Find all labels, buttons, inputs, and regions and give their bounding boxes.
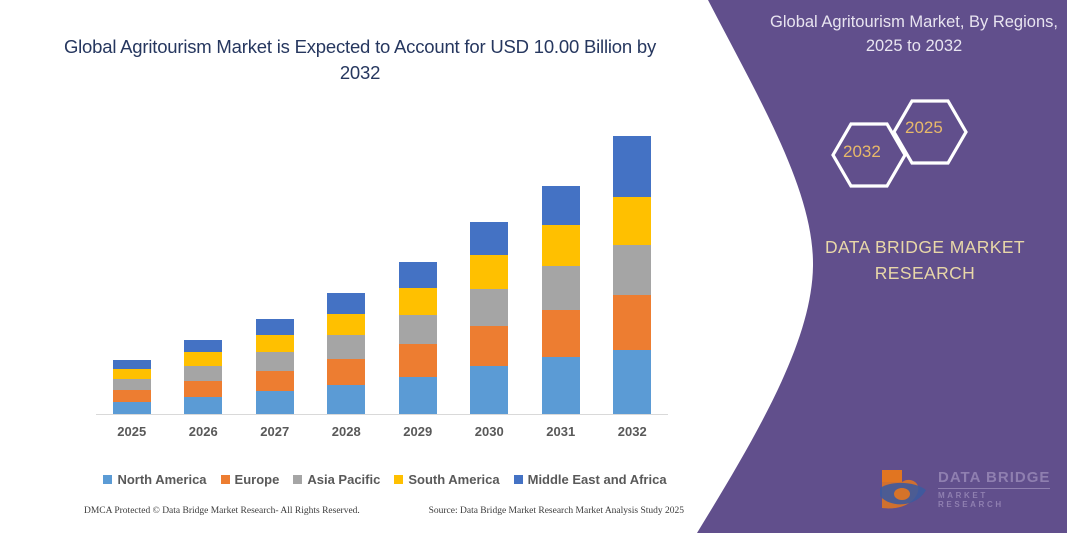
legend-label: Europe [235,472,280,487]
bar-segment [613,197,651,245]
brand-name-line2: RESEARCH [790,260,1060,286]
x-axis-label: 2032 [596,424,668,439]
bar-segment [399,288,437,315]
bar-column [399,262,437,415]
bar-segment [542,225,580,266]
bar-segment [542,357,580,415]
x-axis-label: 2030 [453,424,525,439]
bar-segment [613,350,651,415]
logo-mark-icon [876,464,936,514]
bar-segment [399,315,437,345]
bar-column [470,222,508,415]
logo-text-sub: MARKET RESEARCH [938,491,1056,509]
bar-segment [327,314,365,336]
bar-segment [256,371,294,392]
bar-column [327,293,365,415]
bar-segment [613,136,651,196]
footer-source: Source: Data Bridge Market Research Mark… [429,506,684,516]
footer-copyright: DMCA Protected © Data Bridge Market Rese… [84,506,360,516]
bar-segment [470,289,508,326]
bar-segment [113,360,151,369]
hexagon-shapes [820,92,990,202]
legend-item[interactable]: Middle East and Africa [514,472,667,487]
bar-column [613,136,651,415]
bar-column [542,186,580,415]
legend-item[interactable]: Europe [221,472,280,487]
footer-bar: DMCA Protected © Data Bridge Market Rese… [84,506,684,516]
bar-segment [613,245,651,295]
chart-panel: Global Agritourism Market is Expected to… [0,0,710,533]
hexagon-outline-back [833,124,905,186]
hexagon-label-2032: 2032 [843,142,881,162]
legend-label: Middle East and Africa [528,472,667,487]
bar-segment [327,293,365,314]
x-axis-label: 2026 [167,424,239,439]
bar-segment [327,385,365,415]
bar-chart-plot-area [96,120,668,415]
bar-segment [256,335,294,352]
legend-swatch-icon [293,475,302,484]
bar-segment [327,335,365,359]
bar-segment [613,295,651,350]
bar-segment [256,319,294,335]
watermark-logo: DATA BRIDGE MARKET RESEARCH [876,464,1056,514]
hexagon-outline-front [894,101,966,163]
x-axis-label: 2028 [310,424,382,439]
bar-segment [256,391,294,415]
legend-swatch-icon [394,475,403,484]
brand-name: DATA BRIDGE MARKET RESEARCH [790,234,1060,286]
chart-legend: North AmericaEuropeAsia PacificSouth Ame… [96,472,674,487]
legend-swatch-icon [103,475,112,484]
bar-segment [256,352,294,371]
x-axis-label: 2031 [525,424,597,439]
panel-title: Global Agritourism Market, By Regions, 2… [768,10,1060,58]
legend-item[interactable]: South America [394,472,499,487]
legend-label: Asia Pacific [307,472,380,487]
x-axis-label: 2025 [96,424,168,439]
bar-segment [113,402,151,415]
brand-name-line1: DATA BRIDGE MARKET [790,234,1060,260]
hexagon-label-2025: 2025 [905,118,943,138]
x-axis-label: 2029 [382,424,454,439]
bar-segment [327,359,365,385]
legend-swatch-icon [514,475,523,484]
bar-segment [113,379,151,390]
bar-segment [184,381,222,397]
bar-segment [184,397,222,415]
x-axis-label: 2027 [239,424,311,439]
bar-segment [470,222,508,255]
legend-swatch-icon [221,475,230,484]
hexagon-badges: 2032 2025 [820,92,990,202]
bar-segment [542,186,580,226]
chart-title: Global Agritourism Market is Expected to… [60,34,660,86]
logo-text-main: DATA BRIDGE [938,469,1050,486]
bar-segment [399,262,437,288]
bar-column [256,319,294,415]
x-axis-line [96,414,668,415]
bar-segment [184,366,222,381]
bar-segment [542,310,580,358]
bar-segment [113,369,151,379]
legend-label: North America [117,472,206,487]
bar-column [184,340,222,415]
bar-segment [399,344,437,376]
bar-segment [184,352,222,366]
bar-segment [470,366,508,415]
legend-label: South America [408,472,499,487]
bar-segment [399,377,437,415]
x-axis-labels: 20252026202720282029203020312032 [96,424,668,444]
bar-segment [184,340,222,352]
infographic-page: Global Agritourism Market is Expected to… [0,0,1067,533]
legend-item[interactable]: Asia Pacific [293,472,380,487]
bar-segment [470,255,508,289]
bar-segment [470,326,508,367]
bar-segment [542,266,580,310]
legend-item[interactable]: North America [103,472,206,487]
bar-segment [113,390,151,402]
logo-divider [938,488,1050,489]
bar-column [113,360,151,415]
